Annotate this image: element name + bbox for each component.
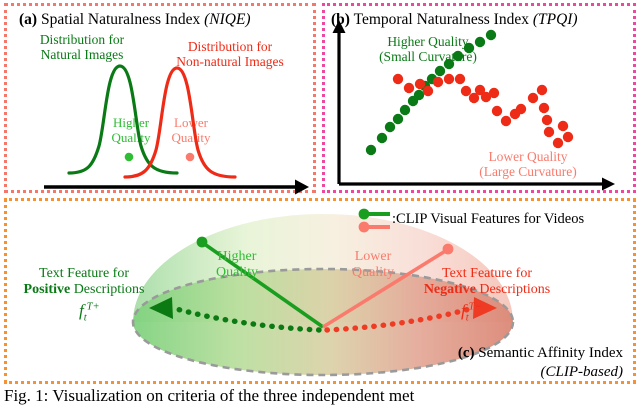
panel-b-y-axis-arrowhead (333, 20, 346, 33)
panel-b-plot (325, 6, 639, 196)
panel-c-title-paren: (CLIP-based) (541, 364, 624, 380)
panel-a-red-dot (186, 153, 195, 162)
panel-a-x-axis-arrowhead (295, 180, 309, 195)
figure-caption: Fig. 1: Visualization on criteria of the… (4, 386, 640, 406)
panel-c-id: (c) (458, 345, 475, 361)
panel-c-title-paren-row: (CLIP-based) (541, 365, 624, 380)
negative-feature-symbol: ftT− (461, 301, 482, 323)
panel-c-title-main: Semantic Affinity Index (478, 345, 623, 361)
panel-c-lower-quality-label: Lower Quality (337, 249, 409, 280)
red-distribution-curve (125, 68, 235, 177)
panel-a-green-dot (125, 153, 134, 162)
panel-spatial-naturalness: (a) Spatial Naturalness Index (NIQE) Dis… (4, 3, 316, 193)
panel-a-plot (7, 6, 319, 196)
lower-quality-vector-endpoint (443, 244, 454, 255)
positive-feature-symbol: ftT+ (79, 301, 100, 323)
legend-green-marker (359, 209, 390, 220)
higher-quality-vector-endpoint (197, 237, 208, 248)
negative-text-feature-label: Text Feature for Negative Descriptions (407, 266, 567, 297)
panel-temporal-naturalness: (b) Temporal Naturalness Index (TPQI) Hi… (322, 3, 636, 193)
negative-keyword: Negative (424, 282, 476, 297)
panel-b-x-axis-arrowhead (602, 178, 615, 191)
panel-semantic-affinity: :CLIP Visual Features for Videos Higher … (4, 198, 636, 384)
panel-c-legend-label: :CLIP Visual Features for Videos (392, 211, 584, 227)
positive-keyword: Positive (24, 282, 71, 297)
panel-c-higher-quality-label: Higher Quality (201, 249, 273, 280)
positive-text-feature-label: Text Feature for Positive Descriptions (9, 266, 159, 297)
panel-b-red-scatter-series (393, 74, 573, 148)
panel-c-title: (c) Semantic Affinity Index (458, 346, 623, 361)
